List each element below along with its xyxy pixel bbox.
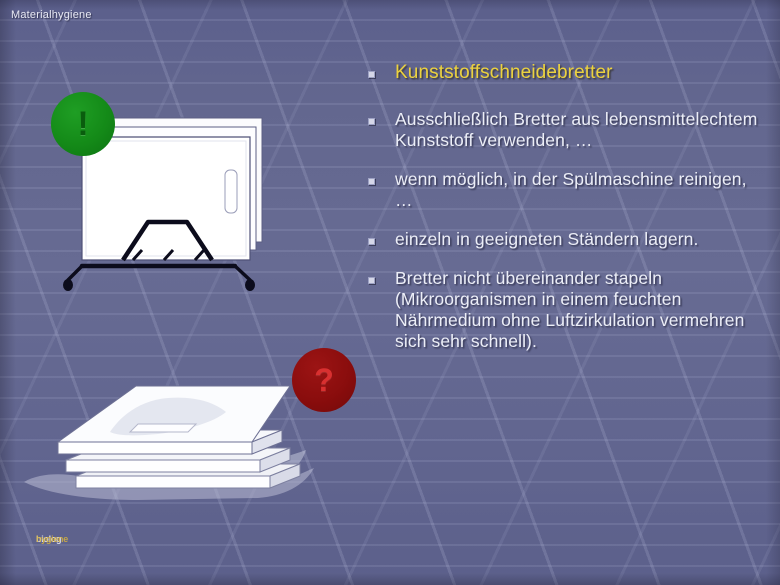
bullet-square-icon xyxy=(368,277,375,284)
bullet-square-icon xyxy=(368,238,375,245)
list-item-label: einzeln in geeigneten Ständern lagern. xyxy=(395,229,698,250)
list-item-label: Bretter nicht übereinander stapeln (Mikr… xyxy=(395,268,768,352)
list-item-label: Kunststoffschneidebretter xyxy=(395,62,613,83)
list-item: Bretter nicht übereinander stapeln (Mikr… xyxy=(368,268,768,352)
page-title: Materialhygiene xyxy=(11,9,92,21)
bullet-square-icon xyxy=(368,178,375,185)
list-item: wenn möglich, in der Spülmaschine reinig… xyxy=(368,169,768,211)
list-item-label: wenn möglich, in der Spülmaschine reinig… xyxy=(395,169,768,211)
list-item: Kunststoffschneidebretter xyxy=(368,62,768,83)
list-item: einzeln in geeigneten Ständern lagern. xyxy=(368,229,768,250)
list-item-label: Ausschließlich Bretter aus lebensmittele… xyxy=(395,109,768,151)
footer-logo: biolog hygiene xyxy=(36,533,100,547)
bullet-list: Kunststoffschneidebretter Ausschließlich… xyxy=(368,62,768,370)
bullet-square-icon xyxy=(368,71,375,78)
bullet-square-icon xyxy=(368,118,375,125)
list-item: Ausschließlich Bretter aus lebensmittele… xyxy=(368,109,768,151)
footer-logo-text-secondary: hygiene xyxy=(36,533,68,545)
status-badge-bad: ? xyxy=(292,348,356,412)
status-badge-good: ! xyxy=(51,92,115,156)
presentation-slide: Materialhygiene xyxy=(0,0,780,585)
